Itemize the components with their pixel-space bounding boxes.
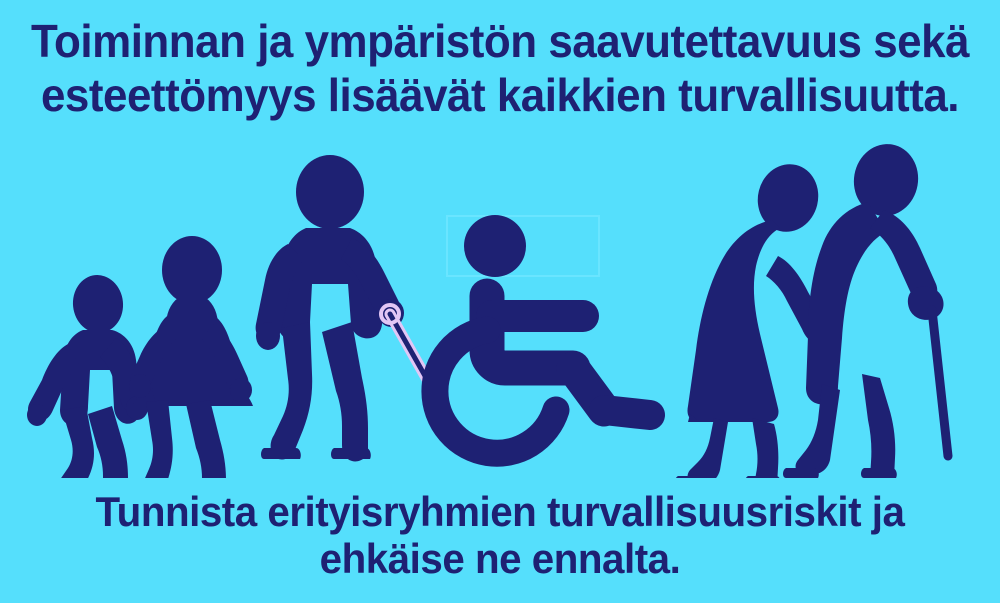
poster-title-line-1: Toiminnan ja ympäristön saavutettavuus s…	[23, 18, 978, 64]
poster-caption-line-2: ehkäise ne ennalta.	[20, 538, 980, 580]
accessibility-safety-poster: Toiminnan ja ympäristön saavutettavuus s…	[0, 0, 1000, 603]
figure-child-boy	[27, 273, 148, 478]
figure-illustration-group	[0, 138, 1000, 478]
figure-child-girl	[129, 236, 253, 478]
poster-caption-line-1: Tunnista erityisryhmien turvallisuusrisk…	[20, 491, 980, 533]
figure-wheelchair-user	[435, 215, 650, 453]
poster-title-line-2: esteettömyys lisäävät kaikkien turvallis…	[23, 72, 978, 118]
